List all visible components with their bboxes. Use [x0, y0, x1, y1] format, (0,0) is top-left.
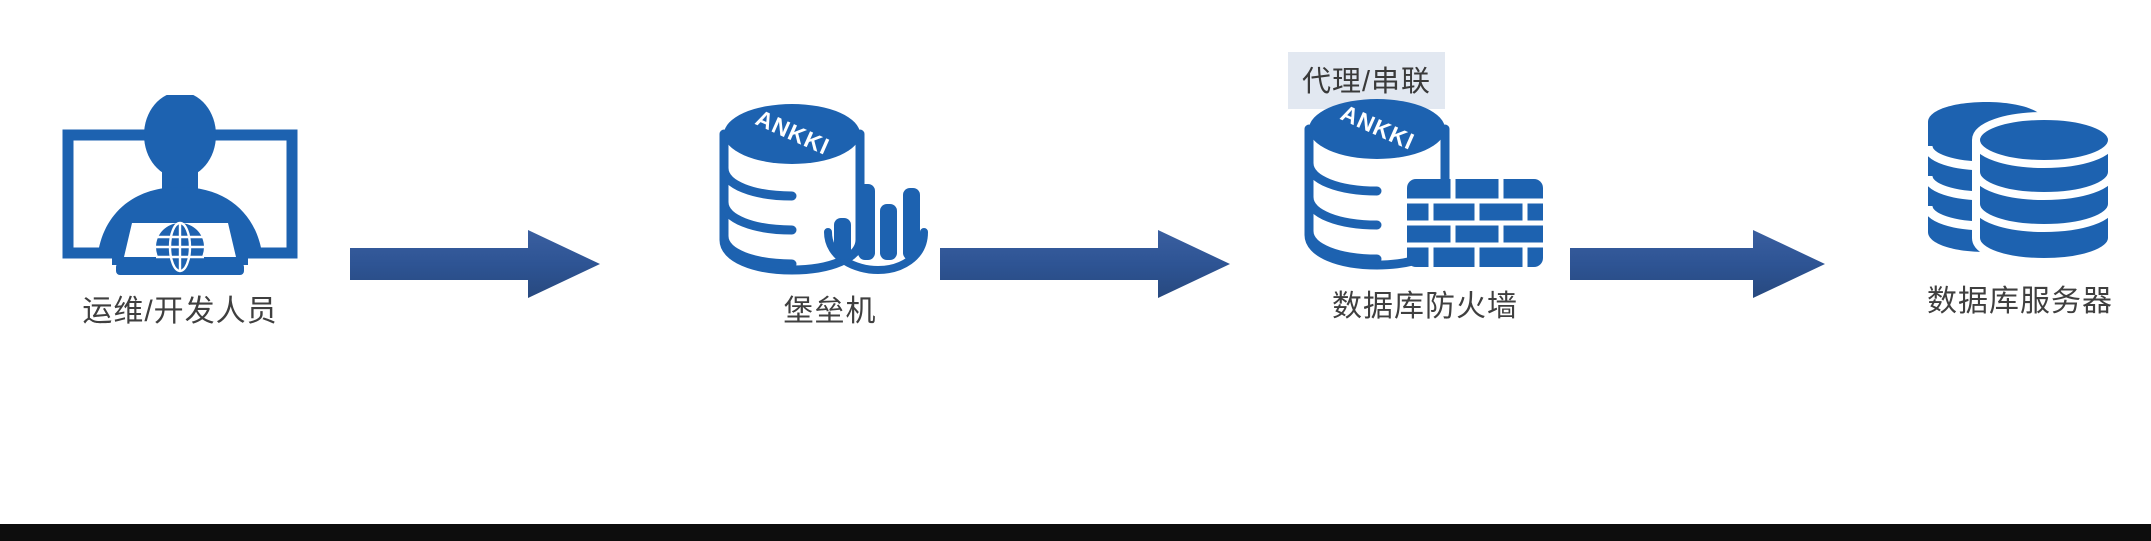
diagram-canvas: 运维/开发人员	[0, 0, 2151, 541]
node-label-user: 运维/开发人员	[82, 286, 277, 330]
diagram-node-user[interactable]: 运维/开发人员	[30, 95, 330, 330]
connector-arrow-bastion-to-firewall	[940, 228, 1230, 305]
diagram-node-bastion[interactable]: ANKKI 堡垒机	[680, 100, 980, 330]
database-cylinder-with-brick-wall-icon: ANKKI	[1295, 95, 1555, 275]
node-label-firewall: 数据库防火墙	[1332, 281, 1518, 325]
diagram-node-dbserver[interactable]: 数据库服务器	[1870, 100, 2151, 320]
database-cylinder-with-bar-chart-icon: ANKKI	[710, 100, 950, 280]
node-label-dbserver: 数据库服务器	[1927, 276, 2113, 320]
person-at-monitor-icon	[60, 95, 300, 280]
connector-arrow-user-to-bastion	[350, 228, 600, 305]
bottom-letterbox-bar	[0, 524, 2151, 541]
brick-wall-shape	[1407, 179, 1543, 267]
node-label-bastion: 堡垒机	[784, 286, 877, 330]
diagram-node-firewall[interactable]: ANKKI	[1260, 95, 1590, 325]
stacked-database-disks-icon	[1920, 100, 2120, 270]
connector-arrow-firewall-to-dbserver	[1570, 228, 1825, 305]
front-disk-stack	[1976, 116, 2112, 262]
